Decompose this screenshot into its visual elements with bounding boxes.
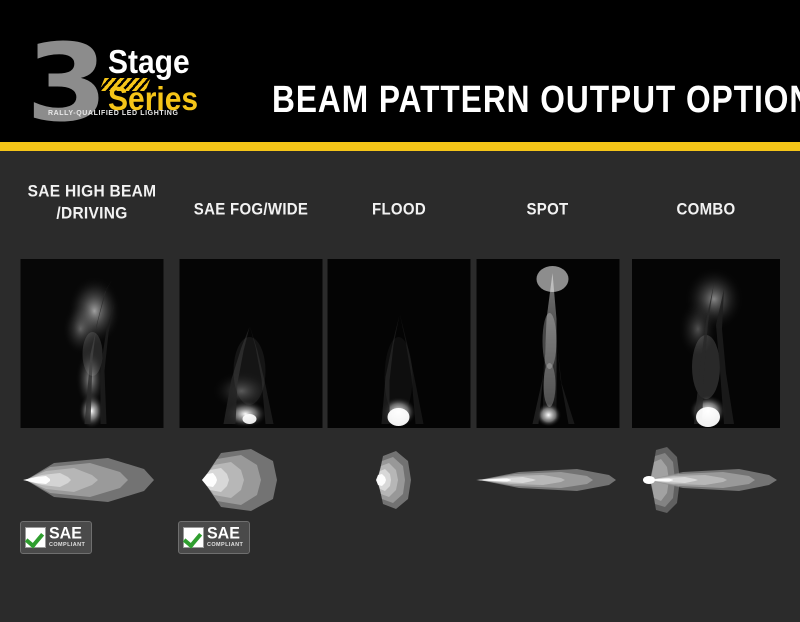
- column-label: SPOT: [473, 199, 622, 221]
- beam-shape: [627, 447, 785, 513]
- logo-wordmark: Stage Series: [108, 46, 248, 112]
- header-bar: 3 Stage Series RALLY-QUALIFIED LED LIGHT…: [0, 0, 800, 142]
- beam-diagram-combo: [627, 447, 785, 513]
- beam-photo-combo: [632, 259, 780, 428]
- sae-compliant-badge: SAE COMPLIANT: [20, 521, 92, 554]
- column-label-line1: COMBO: [677, 200, 736, 219]
- brand-logo: 3 Stage Series RALLY-QUALIFIED LED LIGHT…: [26, 34, 241, 132]
- beam-photo-flood: [328, 259, 471, 428]
- column-label: SAE HIGH BEAM /DRIVING: [16, 181, 168, 225]
- page-title: BEAM PATTERN OUTPUT OPTIONS: [272, 78, 800, 121]
- column-label-line1: SPOT: [526, 200, 568, 219]
- badge-subtitle: COMPLIANT: [49, 543, 85, 549]
- column-label: FLOOD: [326, 199, 472, 221]
- beam-photo-spot: [476, 259, 619, 428]
- beam-column-flood: FLOOD: [326, 151, 472, 622]
- logo-tagline: RALLY-QUALIFIED LED LIGHTING: [48, 110, 179, 117]
- badge-text: SAE COMPLIANT: [49, 526, 85, 549]
- logo-word-stage: Stage: [108, 46, 248, 78]
- beam-column-combo: COMBO: [627, 151, 785, 622]
- beam-photo-sae-high-beam-driving: [21, 259, 164, 428]
- column-label-line1: FLOOD: [372, 200, 426, 219]
- column-label-line2: /DRIVING: [56, 204, 127, 223]
- badge-subtitle: COMPLIANT: [207, 543, 243, 549]
- accent-divider: [0, 142, 800, 151]
- photo-render: [632, 259, 780, 428]
- beam-shape: [473, 447, 622, 513]
- beam-photo-sae-fog-wide: [180, 259, 323, 428]
- column-label-line1: SAE HIGH BEAM: [28, 182, 157, 201]
- badge-title: SAE: [207, 526, 243, 543]
- beam-diagram-spot: [473, 447, 622, 513]
- beam-shape: [326, 447, 472, 513]
- photo-render: [328, 259, 471, 428]
- beam-column-sae-fog-wide: SAE FOG/WIDE: [177, 151, 325, 622]
- badge-text: SAE COMPLIANT: [207, 526, 243, 549]
- column-label: SAE FOG/WIDE: [177, 199, 325, 221]
- beam-diagram-sae-fog-wide: [177, 447, 325, 513]
- photo-render: [21, 259, 164, 428]
- beam-shape: [16, 447, 168, 513]
- photo-render: [180, 259, 323, 428]
- beam-shape: [177, 447, 325, 513]
- beam-column-sae-high-beam-driving: SAE HIGH BEAM /DRIVING: [16, 151, 168, 622]
- beam-pattern-grid: SAE HIGH BEAM /DRIVING: [0, 151, 800, 622]
- sae-compliant-badge: SAE COMPLIANT: [178, 521, 250, 554]
- beam-pattern-infographic: 3 Stage Series RALLY-QUALIFIED LED LIGHT…: [0, 0, 800, 622]
- checkmark-icon: [183, 527, 204, 548]
- logo-numeral: 3: [26, 30, 102, 137]
- beam-diagram-sae-high-beam-driving: [16, 447, 168, 513]
- photo-render: [476, 259, 619, 428]
- checkmark-icon: [25, 527, 46, 548]
- beam-column-spot: SPOT: [473, 151, 622, 622]
- column-label: COMBO: [627, 199, 785, 221]
- badge-title: SAE: [49, 526, 85, 543]
- column-label-line1: SAE FOG/WIDE: [194, 200, 308, 219]
- beam-diagram-flood: [326, 447, 472, 513]
